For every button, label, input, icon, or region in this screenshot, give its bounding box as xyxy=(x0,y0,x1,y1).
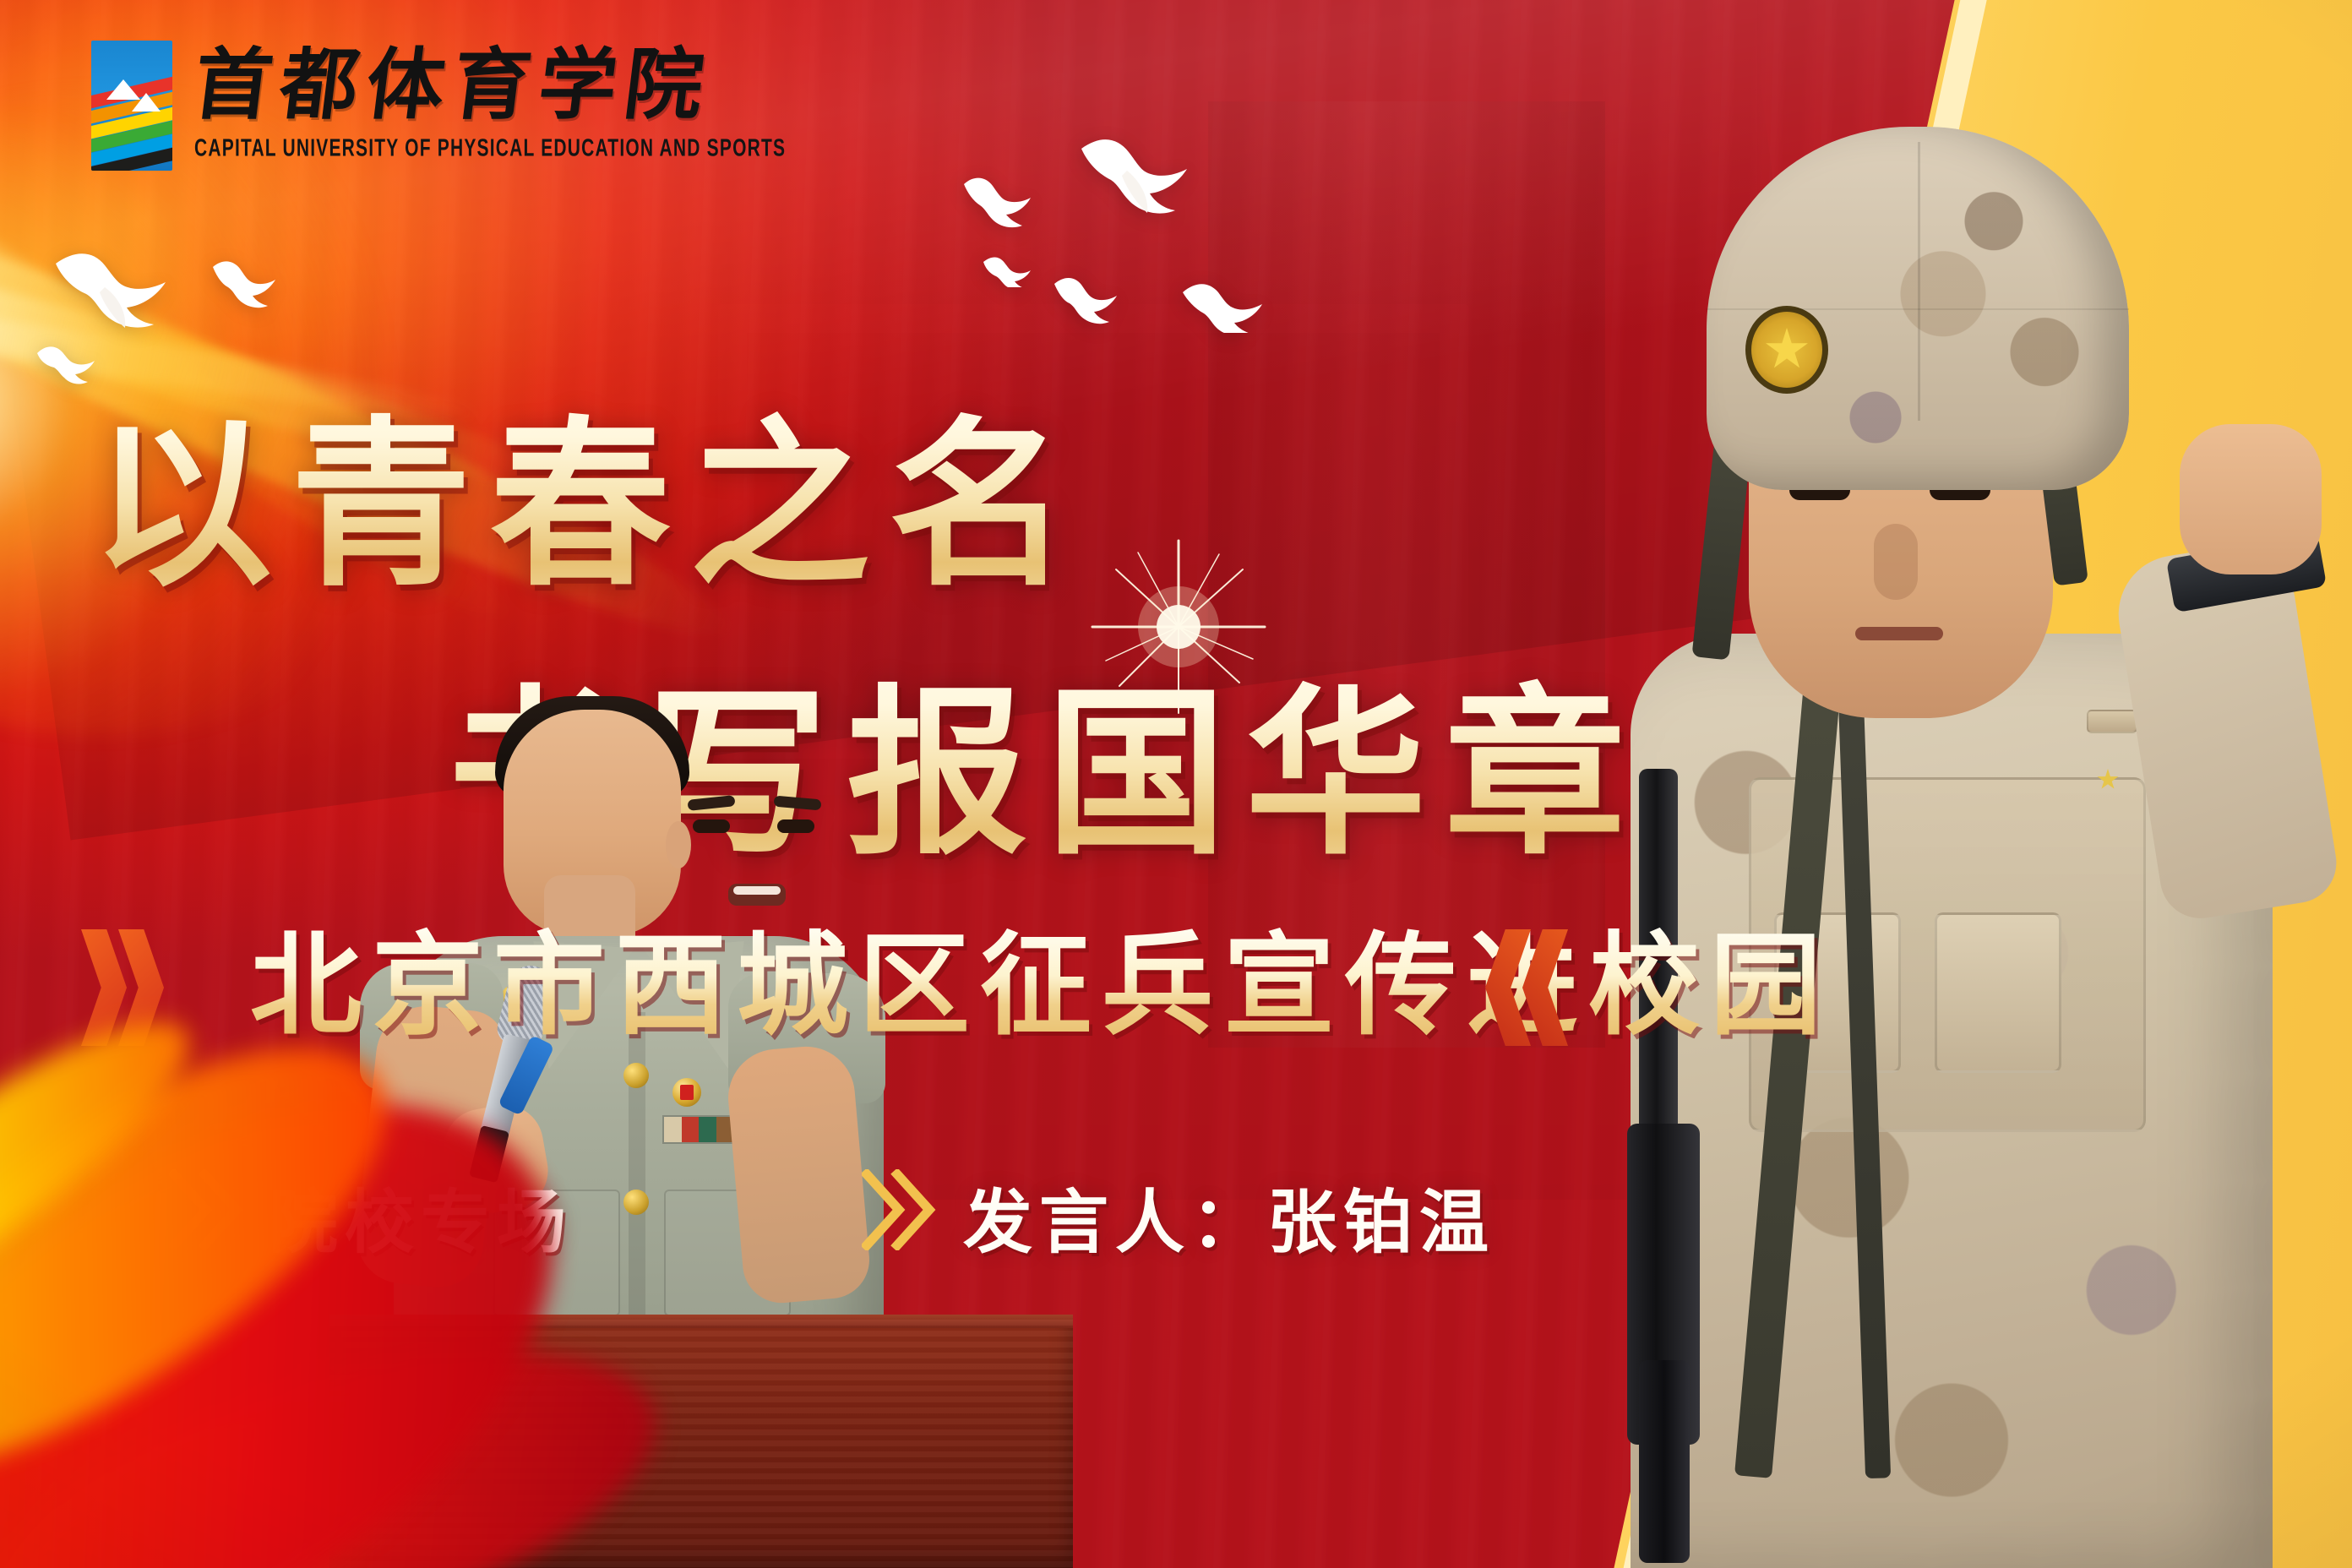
logo-mark-icon xyxy=(91,41,172,171)
soldier-helmet xyxy=(1707,127,2129,490)
speaker-button xyxy=(623,1190,649,1215)
poster-canvas: 首都体育学院 CAPITAL UNIVERSITY OF PHYSICAL ED… xyxy=(0,0,2352,1568)
logo-name-en: CAPITAL UNIVERSITY OF PHYSICAL EDUCATION… xyxy=(194,135,786,162)
speaker-arm-right xyxy=(724,1043,873,1306)
speaker-brow-right xyxy=(774,796,822,811)
soldier-raised-fist xyxy=(2180,424,2322,574)
soldier-shoulder-tab xyxy=(2087,710,2137,733)
university-logo: 首都体育学院 CAPITAL UNIVERSITY OF PHYSICAL ED… xyxy=(91,41,786,171)
soldier-nose xyxy=(1874,524,1918,600)
red-star-icon xyxy=(1765,328,1809,372)
soldier-mouth xyxy=(1855,627,1943,640)
speaker-eye-right xyxy=(777,819,814,833)
speaker-ear xyxy=(666,821,691,868)
speaker-mouth xyxy=(728,884,786,906)
speaker-brow-left xyxy=(687,795,735,811)
speaker-photo xyxy=(338,710,946,1568)
podium xyxy=(329,1315,1073,1568)
speaker-button xyxy=(623,1063,649,1088)
rifle-icon xyxy=(1614,769,1715,1563)
soldier-photo xyxy=(1495,127,2352,1568)
speaker-eye-left xyxy=(693,819,730,833)
soldier-pouch xyxy=(1935,912,2061,1073)
helmet-emblem-icon xyxy=(1745,306,1828,394)
speaker-youth-league-badge xyxy=(672,1078,701,1107)
logo-name-cn: 首都体育学院 xyxy=(189,46,790,123)
